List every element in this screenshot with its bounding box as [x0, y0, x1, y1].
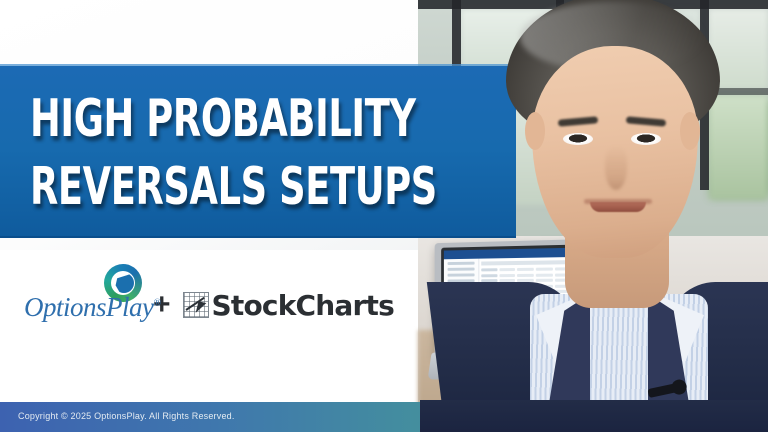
title-block: HIGH PROBABILITY REVERSALS SETUPS [0, 66, 516, 238]
presenter [470, 0, 768, 432]
eye-right [631, 133, 661, 145]
stockcharts-logo: StockCharts [183, 289, 394, 322]
video-thumbnail: HIGH PROBABILITY REVERSALS SETUPS Option… [0, 0, 768, 432]
optionsplay-wordmark: OptionsPlay® [24, 292, 161, 323]
copyright-text: Copyright © 2025 OptionsPlay. All Rights… [18, 411, 235, 421]
eye-left [563, 133, 593, 145]
title-line-1: HIGH PROBABILITY [30, 92, 416, 144]
ear-left [525, 112, 545, 150]
ear-right [680, 112, 700, 150]
title-line-2: REVERSALS SETUPS [30, 160, 437, 212]
logo-row: OptionsPlay® + StockCharts [24, 266, 394, 330]
stockcharts-grid-cursor-icon [183, 292, 209, 318]
nose [605, 146, 627, 190]
stockcharts-wordmark: StockCharts [212, 289, 394, 322]
mouth [590, 202, 646, 212]
optionsplay-logo: OptionsPlay® [24, 266, 149, 330]
footer-occluded-by-presenter [420, 400, 768, 432]
registered-trademark-icon: ® [154, 298, 161, 309]
optionsplay-wordmark-text: OptionsPlay [24, 292, 154, 322]
